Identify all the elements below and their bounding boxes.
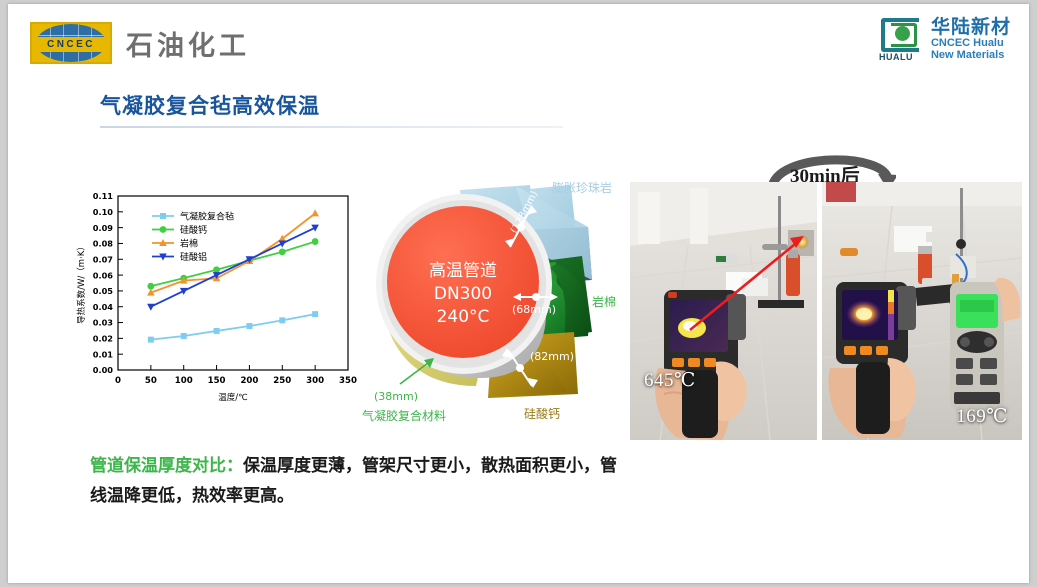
right-temperature-reading: 169℃ bbox=[956, 405, 1008, 428]
chart-svg: 0.000.010.020.030.040.050.060.070.080.09… bbox=[70, 182, 360, 414]
aerogel-name-label: 气凝胶复合材料 bbox=[362, 408, 446, 423]
rockwool-name-label: 岩棉 bbox=[592, 294, 616, 309]
svg-text:100: 100 bbox=[175, 376, 193, 386]
photo-b-svg bbox=[822, 182, 1022, 440]
pipe-diagram-svg: 高温管道 DN300 240°C (128mm) 膨胀珍珠岩 (68mm) 岩棉 bbox=[360, 172, 628, 424]
rockwool-thickness-label: (68mm) bbox=[512, 303, 556, 316]
pipe-label-line1: 高温管道 bbox=[429, 261, 497, 281]
photo-a-svg bbox=[630, 182, 817, 440]
svg-text:0.09: 0.09 bbox=[93, 223, 114, 233]
thermal-test-photos: 645℃ bbox=[630, 182, 1022, 440]
caption-highlight: 管道保温厚度对比： bbox=[90, 456, 243, 476]
svg-text:硅酸铝: 硅酸铝 bbox=[180, 251, 207, 263]
svg-text:0.01: 0.01 bbox=[93, 349, 114, 359]
svg-text:0.11: 0.11 bbox=[93, 191, 114, 201]
pipe-label-line3: 240°C bbox=[437, 307, 490, 327]
svg-text:0.08: 0.08 bbox=[93, 239, 114, 249]
svg-text:150: 150 bbox=[208, 376, 226, 386]
svg-text:0.03: 0.03 bbox=[93, 318, 114, 328]
rockwool-dimension-arrow bbox=[513, 293, 558, 301]
header-right-branding: HUALU 华陆新材 CNCEC Hualu New Materials bbox=[879, 18, 1011, 62]
left-temperature-reading: 645℃ bbox=[644, 369, 696, 392]
hualu-logo-icon: HUALU bbox=[879, 18, 923, 62]
company-name-cn: 石油化工 bbox=[126, 24, 250, 63]
svg-text:250: 250 bbox=[273, 376, 291, 386]
svg-text:200: 200 bbox=[240, 376, 258, 386]
hualu-name-en-line2: New Materials bbox=[931, 50, 1011, 62]
header-left-branding: CNCEC 石油化工 bbox=[30, 22, 250, 64]
svg-text:0.05: 0.05 bbox=[93, 286, 114, 296]
svg-text:岩棉: 岩棉 bbox=[180, 238, 198, 250]
svg-text:0.06: 0.06 bbox=[93, 270, 114, 280]
svg-text:350: 350 bbox=[339, 376, 357, 386]
svg-text:0.00: 0.00 bbox=[93, 365, 114, 375]
svg-text:0: 0 bbox=[115, 376, 121, 386]
photo-after-thermal-camera: 169℃ bbox=[822, 182, 1022, 440]
hualu-logo-wordmark: HUALU bbox=[879, 52, 913, 62]
perlite-name-label: 膨胀珍珠岩 bbox=[552, 180, 612, 195]
pipe-insulation-diagram: 高温管道 DN300 240°C (128mm) 膨胀珍珠岩 (68mm) 岩棉 bbox=[360, 172, 628, 424]
svg-text:气凝胶复合毡: 气凝胶复合毡 bbox=[180, 211, 234, 223]
svg-text:0.07: 0.07 bbox=[93, 254, 114, 264]
svg-text:0.04: 0.04 bbox=[93, 302, 114, 312]
slide-canvas: CNCEC 石油化工 HUALU 华陆新材 CNCEC Hualu New Ma… bbox=[8, 4, 1029, 583]
pipe-label-line2: DN300 bbox=[434, 284, 492, 304]
hualu-name-cn: 华陆新材 bbox=[931, 18, 1011, 38]
svg-text:300: 300 bbox=[306, 376, 324, 386]
svg-text:硅酸钙: 硅酸钙 bbox=[180, 224, 207, 236]
svg-text:0.10: 0.10 bbox=[93, 207, 114, 217]
cncec-logo-icon: CNCEC bbox=[30, 22, 112, 64]
svg-text:温度/℃: 温度/℃ bbox=[218, 392, 248, 403]
cncec-logo-text: CNCEC bbox=[47, 40, 95, 50]
hualu-name-block: 华陆新材 CNCEC Hualu New Materials bbox=[931, 18, 1011, 61]
svg-text:50: 50 bbox=[145, 376, 157, 386]
svg-text:0.02: 0.02 bbox=[93, 334, 113, 344]
page-title: 气凝胶复合毡高效保温 bbox=[100, 90, 320, 120]
calcium-silicate-name-label: 硅酸钙 bbox=[524, 406, 560, 421]
photo-before-thermal-camera: 645℃ bbox=[630, 182, 817, 440]
thermal-conductivity-chart: 0.000.010.020.030.040.050.060.070.080.09… bbox=[70, 182, 360, 414]
svg-text:导热系数/W/（m·K）: 导热系数/W/（m·K） bbox=[76, 242, 87, 324]
calcium-silicate-thickness-label: (82mm) bbox=[530, 350, 574, 363]
summary-caption: 管道保温厚度对比：保温厚度更薄，管架尺寸更小，散热面积更小，管线温降更低，热效率… bbox=[90, 452, 630, 512]
title-underline-divider bbox=[100, 126, 563, 128]
aerogel-thickness-label: (38mm) bbox=[374, 390, 418, 403]
